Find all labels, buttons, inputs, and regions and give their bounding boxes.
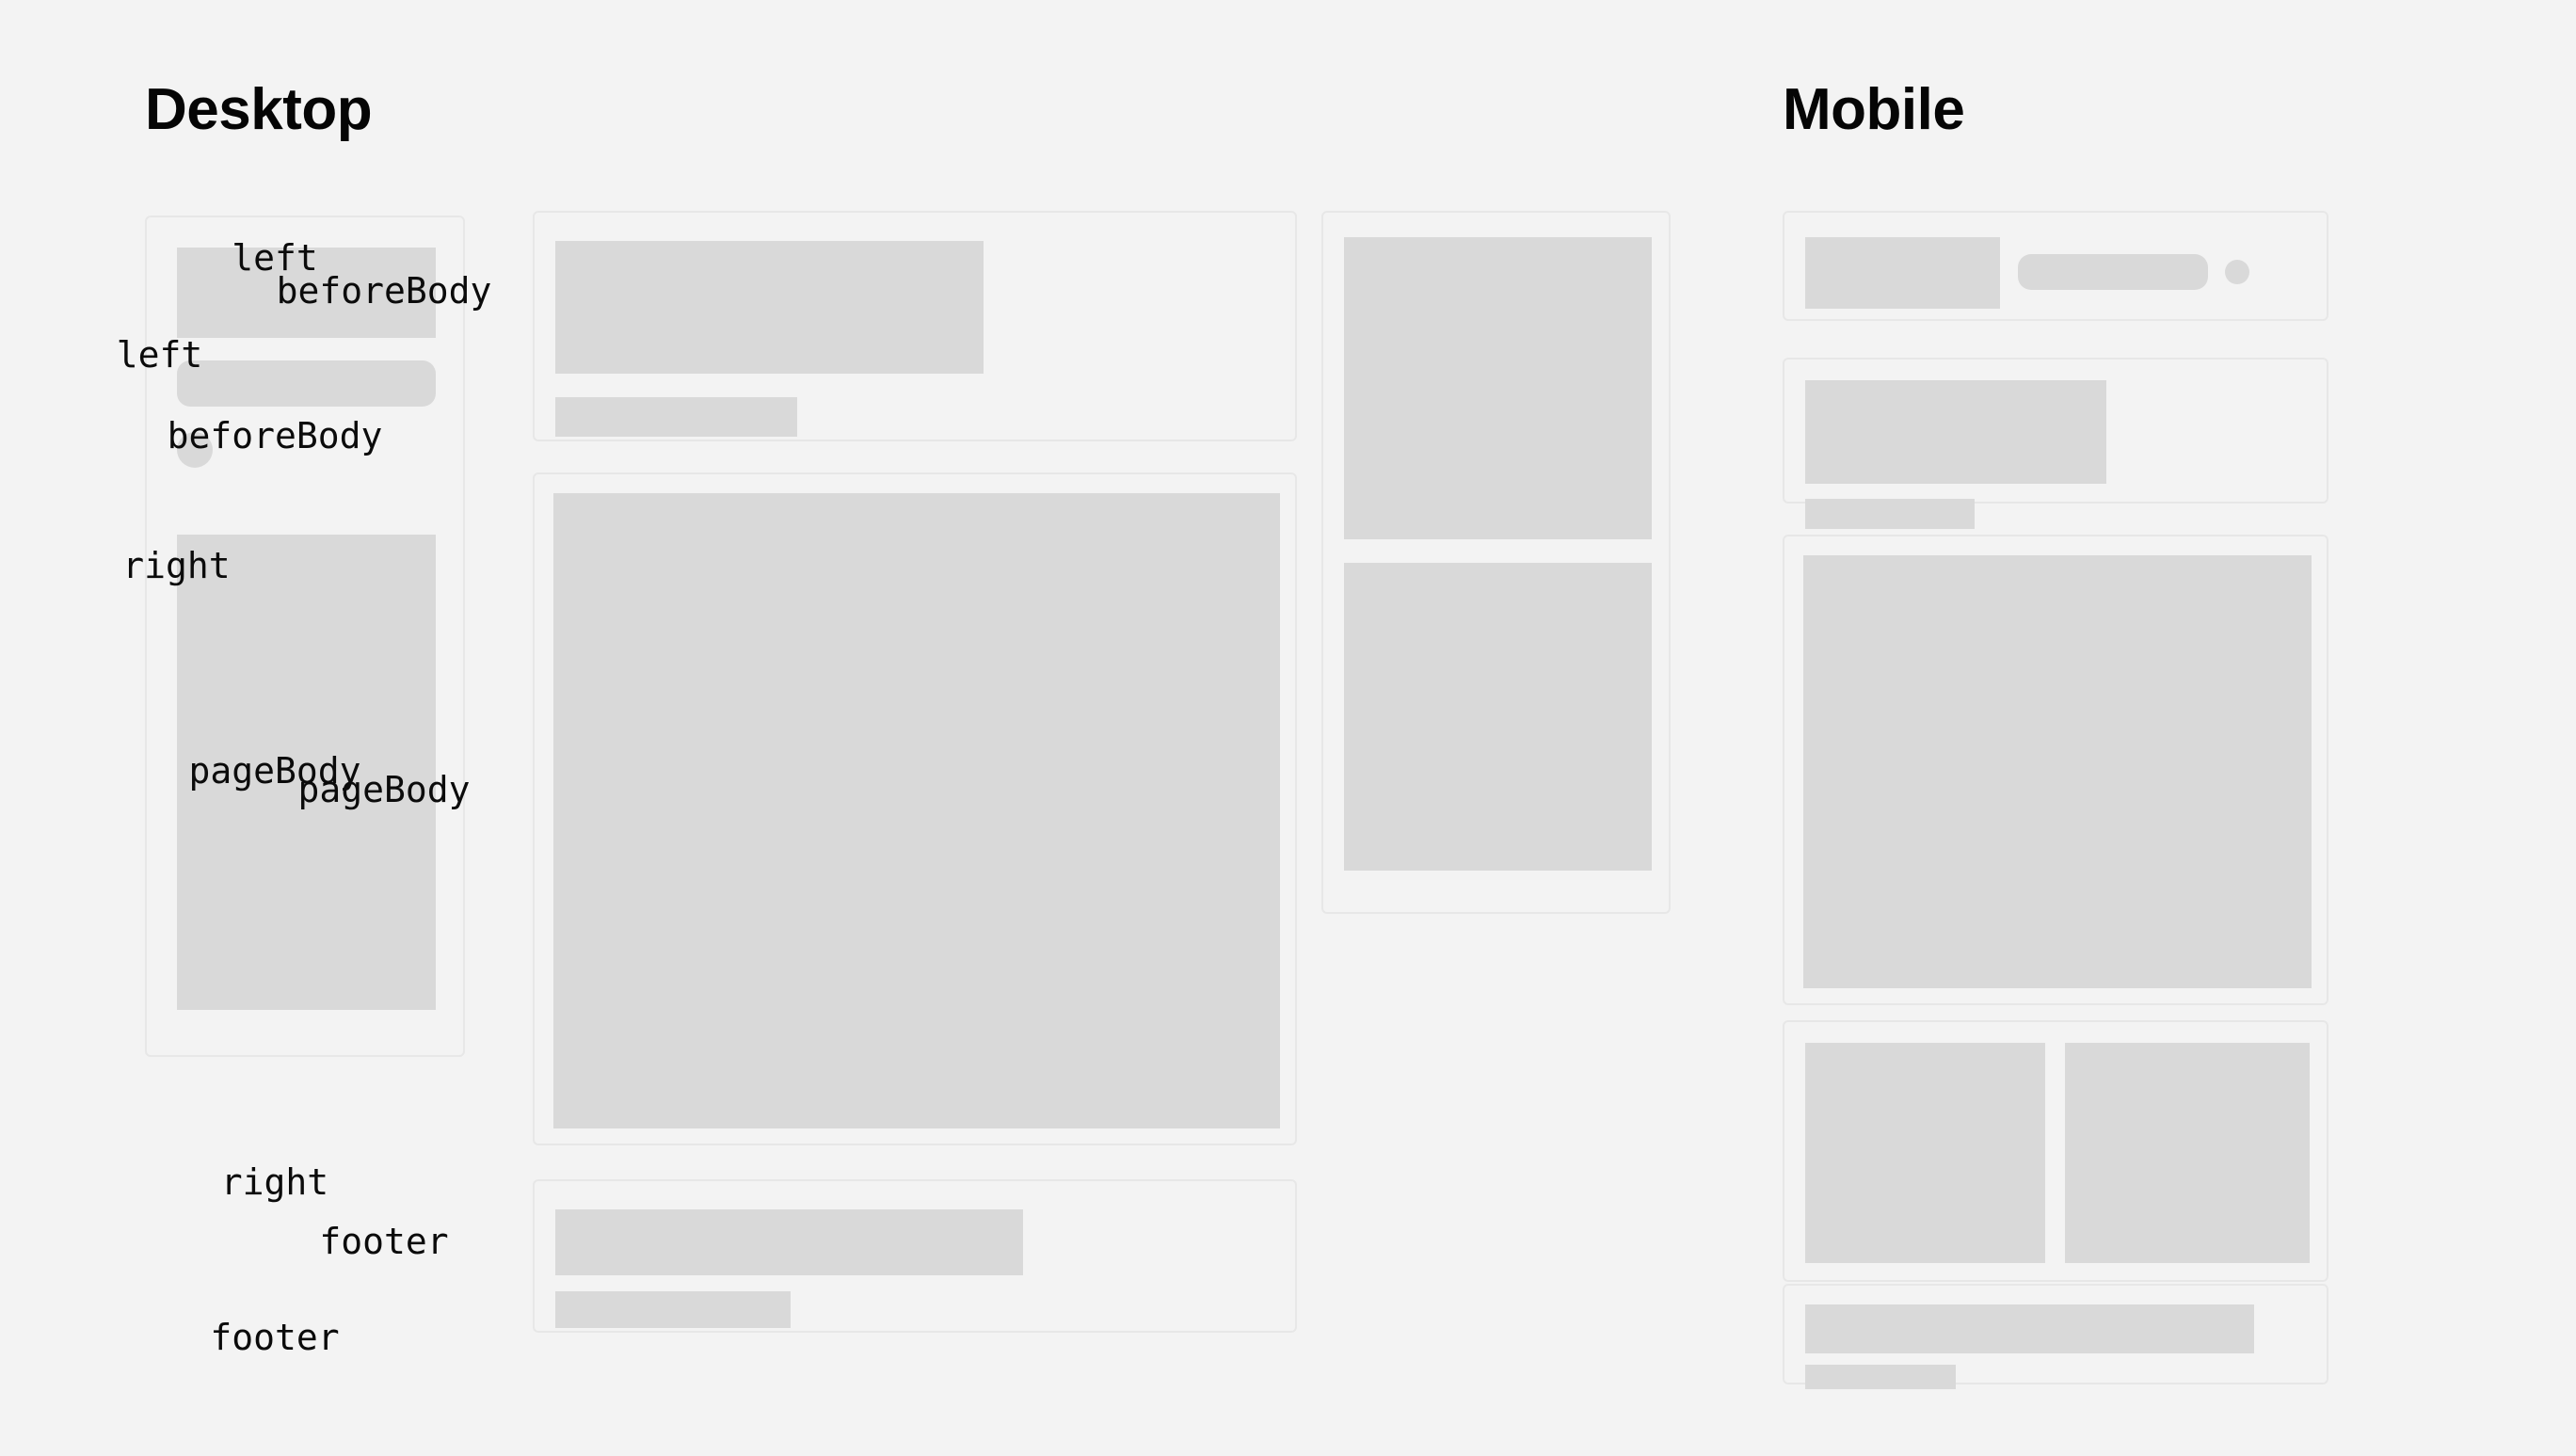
desktop-footer-bar bbox=[555, 1291, 791, 1328]
mobile-right-widget-block-a bbox=[1805, 1043, 2045, 1263]
mobile-region-left[interactable] bbox=[1783, 211, 2328, 321]
mobile-footer-region-label: footer bbox=[2, 1320, 548, 1355]
mobile-left-search-pill bbox=[2018, 254, 2208, 290]
desktop-left-search-pill bbox=[177, 360, 436, 407]
mobile-region-page-body[interactable] bbox=[1783, 535, 2328, 1005]
desktop-footer-block bbox=[555, 1209, 1023, 1275]
mobile-section-heading: Mobile bbox=[1783, 81, 1964, 139]
desktop-page-body-content-block bbox=[553, 493, 1280, 1128]
desktop-region-left[interactable] bbox=[145, 216, 465, 1057]
mobile-region-right[interactable] bbox=[1783, 1020, 2328, 1282]
mobile-before-body-banner-block bbox=[1805, 380, 2106, 484]
desktop-region-footer[interactable] bbox=[533, 1179, 1297, 1333]
mobile-footer-block bbox=[1805, 1304, 2254, 1353]
desktop-section-heading: Desktop bbox=[145, 81, 372, 139]
mobile-before-body-caption-bar bbox=[1805, 499, 1975, 529]
mobile-footer-bar bbox=[1805, 1365, 1956, 1389]
desktop-region-page-body[interactable] bbox=[533, 472, 1297, 1145]
desktop-region-before-body[interactable] bbox=[533, 211, 1297, 441]
mobile-left-header-block bbox=[1805, 237, 2000, 309]
desktop-left-header-block bbox=[177, 248, 436, 338]
mobile-region-footer[interactable] bbox=[1783, 1284, 2328, 1384]
mobile-left-avatar-dot bbox=[2225, 260, 2249, 284]
desktop-left-avatar-dot bbox=[177, 432, 213, 468]
layout-preview-canvas: Desktop Mobile left beforeBody pageBody … bbox=[0, 0, 2576, 1456]
desktop-region-right[interactable] bbox=[1321, 211, 1671, 914]
desktop-before-body-banner-block bbox=[555, 241, 984, 374]
desktop-left-nav-block bbox=[177, 535, 436, 1010]
desktop-right-widget-block-top bbox=[1344, 237, 1652, 539]
desktop-before-body-caption-bar bbox=[555, 397, 797, 437]
mobile-right-region-label: right bbox=[2, 1164, 548, 1200]
desktop-right-widget-block-bottom bbox=[1344, 563, 1652, 871]
mobile-right-widget-block-b bbox=[2065, 1043, 2310, 1263]
mobile-region-before-body[interactable] bbox=[1783, 358, 2328, 504]
mobile-page-body-content-block bbox=[1803, 555, 2312, 988]
